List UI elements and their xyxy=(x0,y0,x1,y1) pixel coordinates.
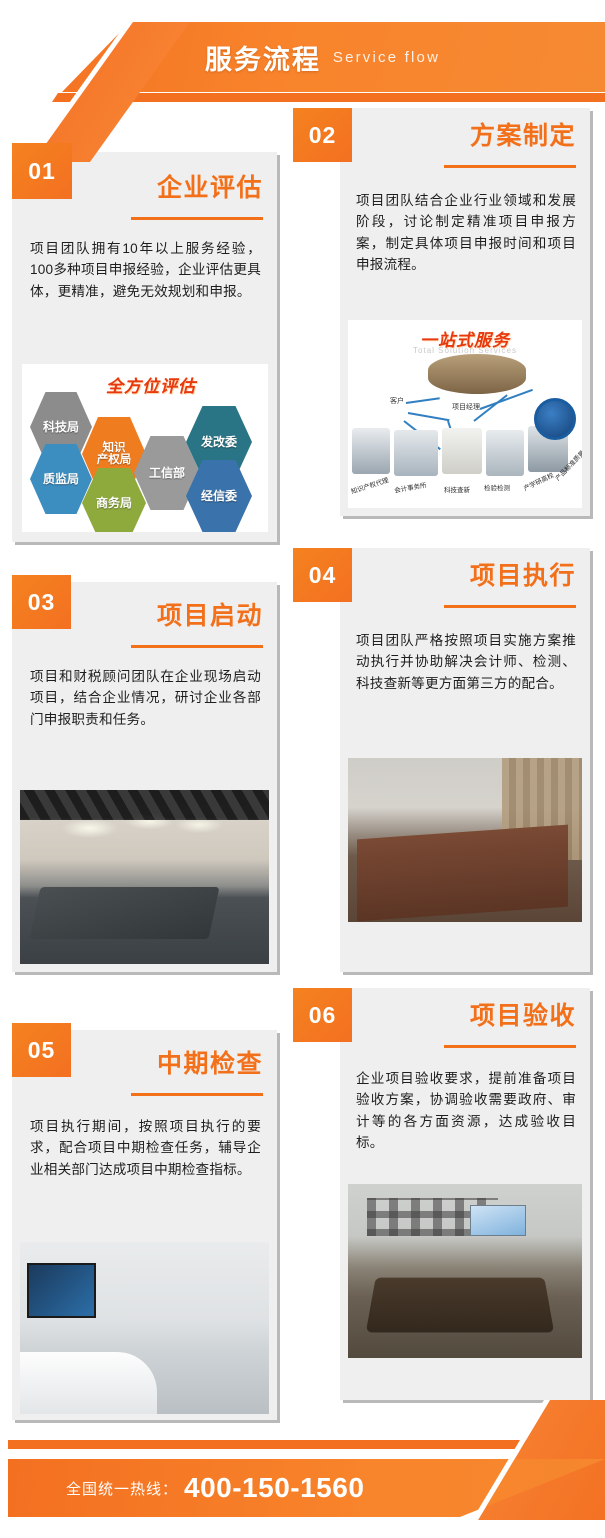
hotline-number[interactable]: 400-150-1560 xyxy=(184,1472,364,1504)
hotline-label: 全国统一热线： xyxy=(66,1478,178,1499)
step-card-01: 企业评估 项目团队拥有10年以上服务经验，100多种项目申报经验，企业评估更具体… xyxy=(12,152,277,542)
oss-arrow-1 xyxy=(406,397,440,404)
hex-node-label: 质监局 xyxy=(43,473,79,486)
step-body-06: 企业项目验收要求，提前准备项目验收方案，协调验收需要政府、审计等的各方面资源，达… xyxy=(356,1068,576,1154)
step-title-rule-04 xyxy=(444,605,576,608)
oss-hero-photo xyxy=(428,354,526,394)
hex-node-label: 科技局 xyxy=(43,421,79,434)
oss-label-customer: 客户 xyxy=(390,396,404,406)
step-title-rule-02 xyxy=(444,165,576,168)
oss-caption-novelty: 科技查新 xyxy=(444,484,470,494)
step-body-03: 项目和财税顾问团队在企业现场启动项目，结合企业情况，研讨企业各部门申报职责和任务… xyxy=(30,666,261,730)
step-title-02: 方案制定 xyxy=(376,124,576,149)
assessment-hex-diagram: 全方位评估 科技局 知识产权局 发改委 质监局 工信部 商务局 经信委 xyxy=(22,364,268,532)
oss-caption-ip: 知识产权代理 xyxy=(349,474,389,496)
hex-node-label: 知识产权局 xyxy=(97,442,132,467)
oss-arrow-2 xyxy=(408,412,450,421)
oss-label-manager: 项目经理 xyxy=(452,402,480,412)
projector-screen xyxy=(470,1205,526,1236)
step-body-02: 项目团队结合企业行业领域和发展阶段，讨论制定精准项目申报方案，制定具体项目申报时… xyxy=(356,190,576,276)
hex-node-label: 商务局 xyxy=(96,497,132,510)
oss-caption-testing: 检验检测 xyxy=(484,482,510,492)
oss-node-testing xyxy=(486,430,524,476)
showroom-visit-photo xyxy=(20,1242,269,1414)
oss-node-ip xyxy=(352,428,390,474)
step-badge-03: 03 xyxy=(12,575,71,629)
step-title-01: 企业评估 xyxy=(63,176,263,201)
step-card-05: 中期检查 项目执行期间，按照项目执行的要求，配合项目中期检查任务，辅导企业相关部… xyxy=(12,1030,277,1420)
step-badge-04: 04 xyxy=(293,548,352,602)
hex-node-label: 经信委 xyxy=(201,490,237,503)
step-title-rule-05 xyxy=(131,1093,263,1096)
step-card-06: 项目验收 企业项目验收要求，提前准备项目验收方案，协调验收需要政府、审计等的各方… xyxy=(340,988,590,1400)
step-title-04: 项目执行 xyxy=(376,564,576,589)
step-body-05: 项目执行期间，按照项目执行的要求，配合项目中期检查任务，辅导企业相关部门达成项目… xyxy=(30,1116,261,1180)
hex-node-label: 发改委 xyxy=(201,436,237,449)
step-badge-01: 01 xyxy=(12,143,72,199)
step-card-04: 项目执行 项目团队严格按照项目实施方案推动执行并协助解决会计师、检测、科技查新等… xyxy=(340,548,590,972)
step-title-03: 项目启动 xyxy=(63,604,263,629)
meeting-room-photo xyxy=(20,790,269,964)
step-card-03: 项目启动 项目和财税顾问团队在企业现场启动项目，结合企业情况，研讨企业各部门申报… xyxy=(12,582,277,972)
oss-node-novelty xyxy=(442,428,482,474)
step-title-rule-01 xyxy=(131,217,263,220)
step-card-02: 方案制定 项目团队结合企业行业领域和发展阶段，讨论制定精准项目申报方案，制定具体… xyxy=(340,108,590,516)
step-title-rule-03 xyxy=(131,645,263,648)
step-badge-06: 06 xyxy=(293,988,352,1042)
step-body-01: 项目团队拥有10年以上服务经验，100多种项目申报经验，企业评估更具体，更精准，… xyxy=(30,238,261,302)
service-flow-infographic: 服务流程 Service flow 企业评估 项目团队拥有10年以上服务经验，1… xyxy=(0,0,605,1538)
step-badge-05: 05 xyxy=(12,1023,71,1077)
oss-node-accounting xyxy=(394,430,438,476)
step-badge-02: 02 xyxy=(293,108,352,162)
oss-caption-accounting: 会计事务所 xyxy=(393,479,427,494)
step-title-rule-06 xyxy=(444,1045,576,1048)
step-title-05: 中期检查 xyxy=(63,1052,263,1077)
hex-diagram-title: 全方位评估 xyxy=(106,372,196,397)
oss-quality-seal-icon xyxy=(534,398,576,440)
step-body-04: 项目团队严格按照项目实施方案推动执行并协助解决会计师、检测、科技查新等更方面第三… xyxy=(356,630,576,694)
hex-node-label: 工信部 xyxy=(149,467,185,480)
oss-caption-university: 产学研高校 xyxy=(521,469,555,492)
step-title-06: 项目验收 xyxy=(376,1004,576,1029)
one-stop-service-diagram: 一站式服务 Total Solution Services 客户 项目经理 知识… xyxy=(348,320,582,508)
working-session-photo xyxy=(348,758,582,922)
conference-photo xyxy=(348,1184,582,1358)
